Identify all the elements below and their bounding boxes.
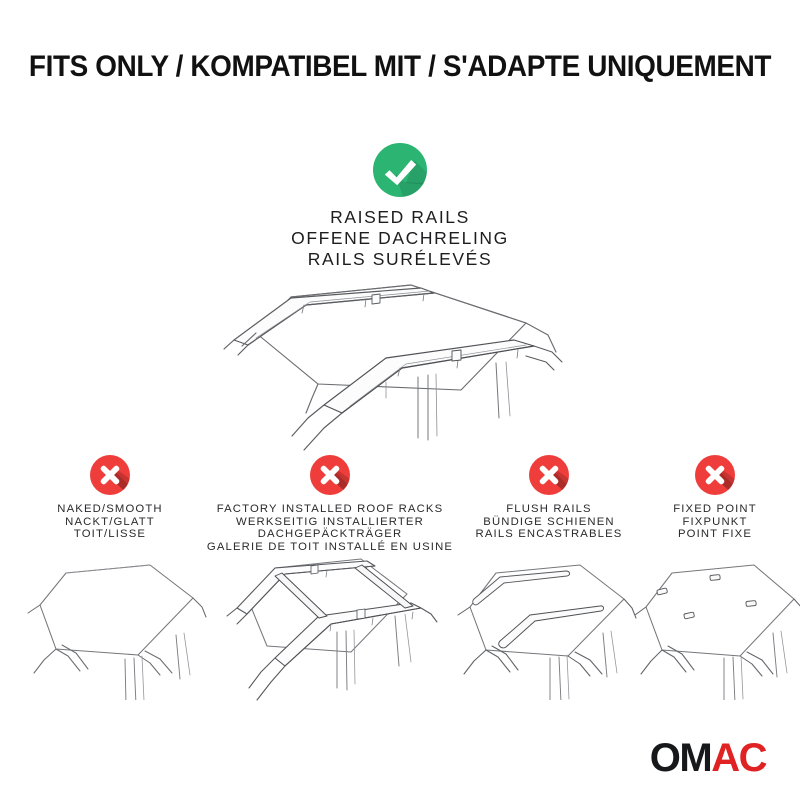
x-circle-icon bbox=[90, 455, 130, 495]
car-roof-with-raised-rails-illustration bbox=[196, 278, 616, 463]
car-roof-with-flush-rails-illustration bbox=[438, 555, 643, 700]
approved-labels: RAISED RAILS OFFENE DACHRELING RAILS SUR… bbox=[291, 207, 509, 270]
excluded-label-line: DACHGEPÄCKTRÄGER bbox=[207, 528, 453, 541]
excluded-labels: FIXED POINT FIXPUNKT POINT FIXE bbox=[673, 503, 757, 541]
logo-text-om: OM bbox=[650, 738, 711, 778]
car-roof-naked-smooth-illustration bbox=[10, 555, 210, 700]
approved-label-en: RAISED RAILS bbox=[291, 207, 509, 228]
x-circle-icon bbox=[695, 455, 735, 495]
excluded-label-line: FIXED POINT bbox=[673, 503, 757, 516]
excluded-labels: FLUSH RAILS BÜNDIGE SCHIENEN RAILS ENCAS… bbox=[476, 503, 623, 541]
header: FITS ONLY / KOMPATIBEL MIT / S'ADAPTE UN… bbox=[0, 50, 800, 84]
car-roof-with-factory-cross-bars-illustration bbox=[215, 548, 445, 703]
approved-block: RAISED RAILS OFFENE DACHRELING RAILS SUR… bbox=[0, 143, 800, 270]
excluded-labels: FACTORY INSTALLED ROOF RACKS WERKSEITIG … bbox=[207, 503, 453, 553]
excluded-item-flush-rails: FLUSH RAILS BÜNDIGE SCHIENEN RAILS ENCAS… bbox=[460, 455, 638, 541]
excluded-label-line: POINT FIXE bbox=[673, 528, 757, 541]
x-circle-icon bbox=[529, 455, 569, 495]
excluded-label-line: FLUSH RAILS bbox=[476, 503, 623, 516]
omac-logo: OMAC bbox=[650, 738, 766, 778]
excluded-label-line: BÜNDIGE SCHIENEN bbox=[476, 516, 623, 529]
excluded-label-line: FACTORY INSTALLED ROOF RACKS bbox=[207, 503, 453, 516]
approved-label-fr: RAILS SURÉLEVÉS bbox=[291, 249, 509, 270]
excluded-item-fixed-point: FIXED POINT FIXPUNKT POINT FIXE bbox=[640, 455, 790, 541]
excluded-label-line: RAILS ENCASTRABLES bbox=[476, 528, 623, 541]
excluded-labels: NAKED/SMOOTH NACKT/GLATT TOIT/LISSE bbox=[57, 503, 162, 541]
logo-text-ac: AC bbox=[711, 738, 766, 778]
car-roof-with-fixed-points-illustration bbox=[618, 555, 800, 700]
page-title: FITS ONLY / KOMPATIBEL MIT / S'ADAPTE UN… bbox=[29, 50, 771, 84]
excluded-label-line: FIXPUNKT bbox=[673, 516, 757, 529]
approved-label-de: OFFENE DACHRELING bbox=[291, 228, 509, 249]
excluded-label-line: TOIT/LISSE bbox=[57, 528, 162, 541]
x-circle-icon bbox=[310, 455, 350, 495]
excluded-item-factory-roof-racks: FACTORY INSTALLED ROOF RACKS WERKSEITIG … bbox=[205, 455, 455, 553]
excluded-label-line: NAKED/SMOOTH bbox=[57, 503, 162, 516]
check-circle-icon bbox=[373, 143, 427, 197]
excluded-item-naked-smooth: NAKED/SMOOTH NACKT/GLATT TOIT/LISSE bbox=[22, 455, 198, 541]
excluded-label-line: NACKT/GLATT bbox=[57, 516, 162, 529]
excluded-label-line: WERKSEITIG INSTALLIERTER bbox=[207, 516, 453, 529]
